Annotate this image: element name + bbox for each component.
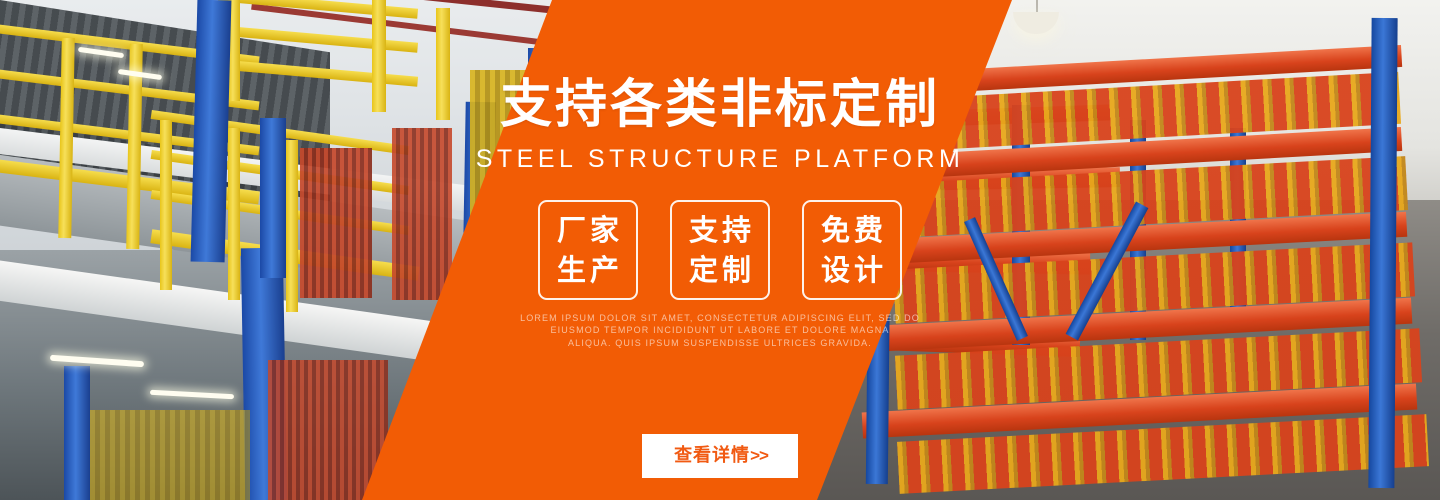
banner-content: 支持各类非标定制 STEEL STRUCTURE PLATFORM 厂家 生产 … — [0, 0, 1440, 500]
feature-box-customization[interactable]: 支持 定制 — [670, 200, 770, 300]
feature-box-line2: 生产 — [553, 250, 623, 290]
feature-box-line1: 免费 — [817, 210, 887, 250]
cta-container: 查看详情>> — [0, 434, 1440, 478]
cta-arrows-icon: >> — [750, 446, 768, 465]
feature-box-list: 厂家 生产 支持 定制 免费 设计 — [0, 200, 1440, 300]
cta-label: 查看详情 — [674, 445, 750, 466]
page-title: 支持各类非标定制 — [0, 76, 1440, 134]
description-line-2: EIUSMOD TEMPOR INCIDIDUNT UT LABORE ET D… — [0, 324, 1440, 336]
feature-box-manufacturer[interactable]: 厂家 生产 — [538, 200, 638, 300]
promo-banner: 支持各类非标定制 STEEL STRUCTURE PLATFORM 厂家 生产 … — [0, 0, 1440, 500]
feature-box-free-design[interactable]: 免费 设计 — [802, 200, 902, 300]
view-details-button[interactable]: 查看详情>> — [642, 434, 798, 478]
feature-box-line2: 设计 — [817, 250, 887, 290]
feature-box-line1: 厂家 — [553, 210, 623, 250]
description-line-3: ALIQUA. QUIS IPSUM SUSPENDISSE ULTRICES … — [0, 337, 1440, 349]
banner-subtitle: STEEL STRUCTURE PLATFORM — [0, 144, 1440, 174]
feature-box-line1: 支持 — [685, 210, 755, 250]
description-line-1: LOREM IPSUM DOLOR SIT AMET, CONSECTETUR … — [0, 312, 1440, 324]
banner-description: LOREM IPSUM DOLOR SIT AMET, CONSECTETUR … — [0, 312, 1440, 349]
feature-box-line2: 定制 — [685, 250, 755, 290]
